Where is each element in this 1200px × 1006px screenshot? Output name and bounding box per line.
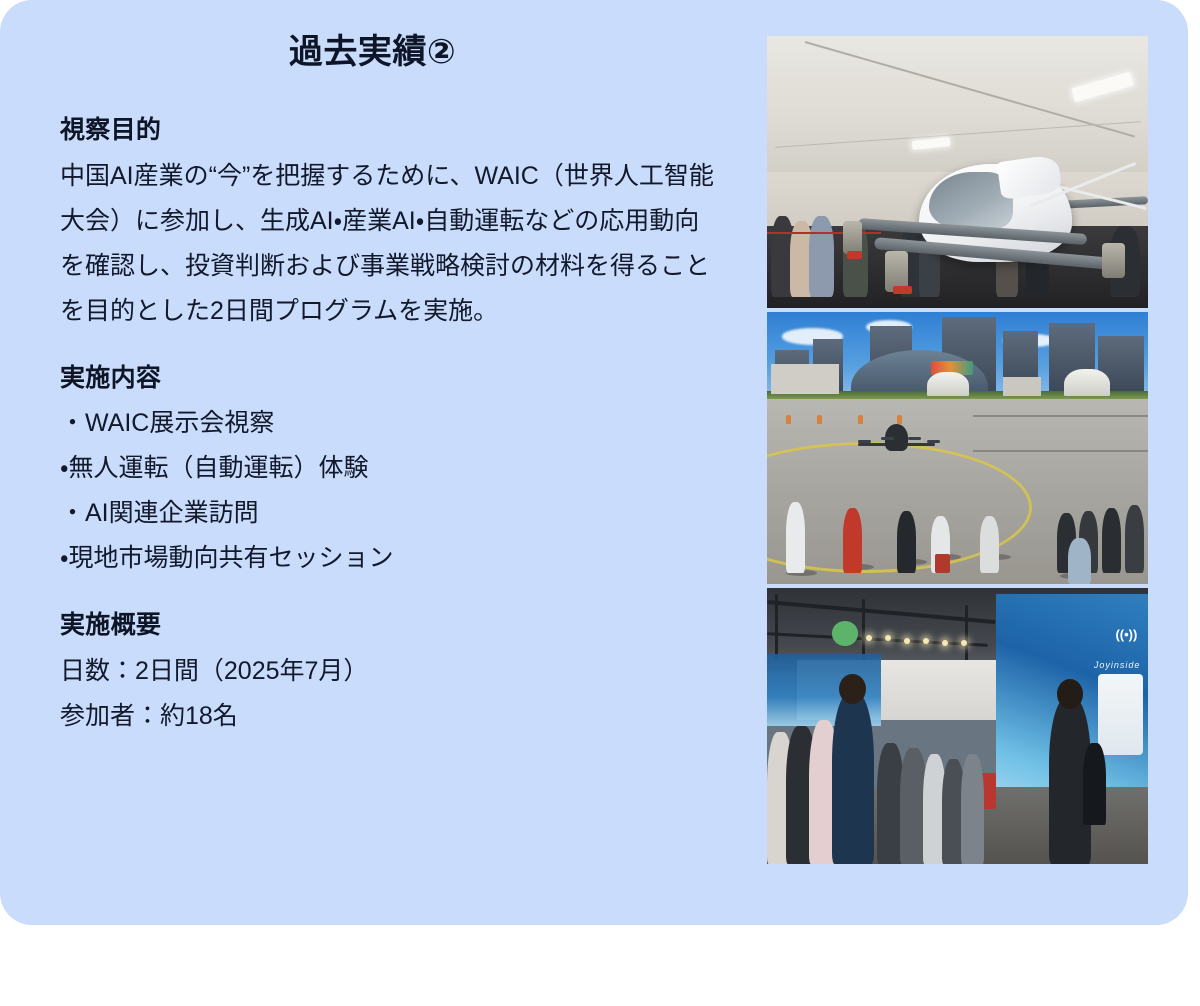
barrier-rope (767, 232, 881, 234)
booth-brand-label: Joyinside (1094, 660, 1141, 670)
evtol-indoor-exhibit-photo (767, 36, 1148, 308)
list-item: ・現地市場動向共有セッション (60, 536, 720, 581)
page-title: 過去実績② (0, 32, 745, 73)
green-sign-icon (832, 621, 859, 646)
spectator (897, 511, 916, 574)
drone-rotor (908, 437, 921, 440)
fence (973, 415, 1148, 452)
traffic-cone (897, 415, 902, 424)
motor-marker (893, 286, 912, 294)
booth-logo-icon: ((•)) (1115, 627, 1137, 642)
exhibition-hall-booth-photo: ((•)) Joyinside (767, 588, 1148, 864)
list-item: ・WAIC展示会視察 (60, 401, 720, 446)
motor-marker (847, 251, 862, 259)
traffic-cone (786, 415, 791, 424)
spectator (843, 508, 862, 573)
spectator (980, 516, 999, 573)
booth-display-panel (1098, 674, 1144, 755)
ceiling-spotlight (904, 638, 910, 644)
list-item: ・AI関連企業訪問 (60, 491, 720, 536)
section-activities: 実施内容 ・WAIC展示会視察 ・無人運転（自動運転）体験 ・AI関連企業訪問 … (60, 360, 720, 582)
ceiling-truss (775, 594, 778, 660)
traffic-cone (858, 415, 863, 424)
slide-card: 過去実績② 視察目的 中国AI産業の“今”を把握するために、WAIC（世界人工智… (0, 0, 1188, 925)
ceiling-truss (862, 599, 865, 660)
drone-rotor (927, 440, 940, 443)
purpose-paragraph: 中国AI産業の“今”を把握するために、WAIC（世界人工智能大会）に参加し、生成… (60, 154, 720, 334)
spectator (1068, 538, 1091, 584)
spectator (1125, 505, 1144, 573)
list-item: ・無人運転（自動運転）体験 (60, 446, 720, 491)
section-purpose: 視察目的 中国AI産業の“今”を把握するために、WAIC（世界人工智能大会）に参… (60, 112, 720, 334)
drone-motor (1102, 243, 1125, 278)
content-column: 視察目的 中国AI産業の“今”を把握するために、WAIC（世界人工智能大会）に参… (60, 112, 720, 739)
traffic-cone (817, 415, 822, 424)
attendee-head (839, 674, 866, 704)
ceiling (767, 36, 1148, 188)
section-heading-purpose: 視察目的 (60, 112, 720, 150)
ceiling-spotlight (923, 638, 929, 644)
spectator (1102, 508, 1121, 573)
drone-motor (843, 221, 862, 254)
equipment-case (935, 554, 950, 573)
attendee (832, 693, 874, 864)
attendee (961, 754, 984, 864)
activities-list: ・WAIC展示会視察 ・無人運転（自動運転）体験 ・AI関連企業訪問 ・現地市場… (60, 401, 720, 581)
section-heading-activities: 実施内容 (60, 360, 720, 398)
photo-column: ((•)) Joyinside (767, 36, 1148, 868)
storage-tank (1064, 369, 1110, 396)
drone-rotor (858, 440, 871, 443)
overview-days: 日数：2日間（2025年7月） (60, 649, 720, 694)
ceiling-spotlight (885, 635, 891, 641)
section-overview: 実施概要 日数：2日間（2025年7月） 参加者：約18名 (60, 607, 720, 739)
spectator (786, 502, 805, 573)
visitor (809, 216, 834, 298)
drone-rotor (881, 437, 894, 440)
ceiling-spotlight (866, 635, 872, 641)
storage-tank (927, 372, 969, 396)
backpack (1083, 743, 1106, 826)
utility-block (771, 364, 840, 394)
drone-outdoor-demo-photo (767, 312, 1148, 584)
overview-participants: 参加者：約18名 (60, 694, 720, 739)
section-heading-overview: 実施概要 (60, 607, 720, 645)
utility-block (1003, 377, 1041, 396)
